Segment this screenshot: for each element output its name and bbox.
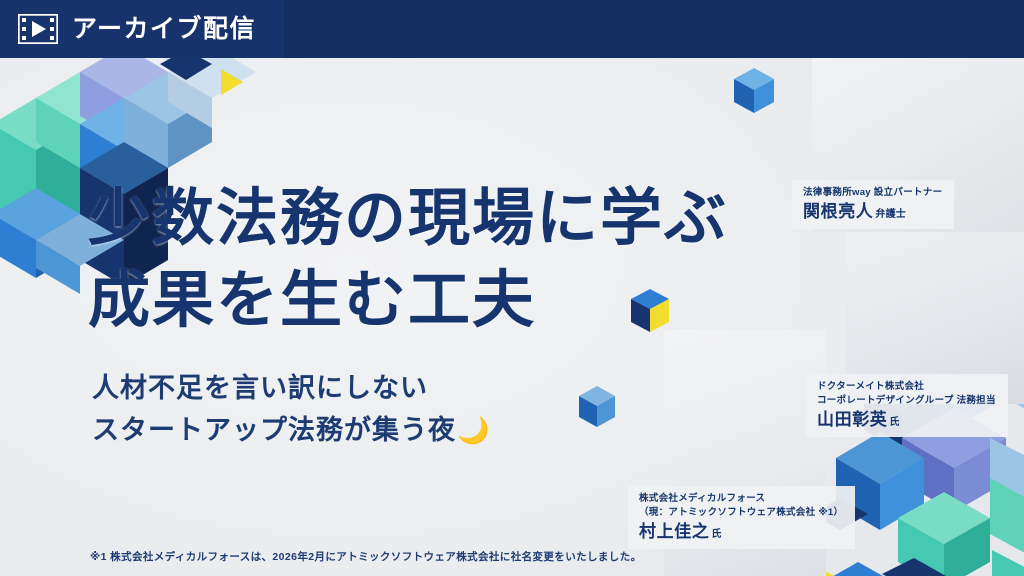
nameplate-name-yamada: 山田彰英氏 [817, 410, 996, 430]
speaker-suffix-murakami: 氏 [711, 529, 721, 540]
cube-blue-lower-center [578, 385, 616, 429]
page-title: 少数法務の現場に学ぶ 成果を生む工夫 [88, 178, 728, 343]
crescent-moon-icon: 🌙 [457, 415, 490, 445]
nameplate-name-murakami: 村上佳之氏 [639, 522, 843, 542]
subtitle-line-2: スタートアップ法務が集う夜🌙 [92, 410, 490, 452]
speaker-suffix-sekine: 弁護士 [875, 209, 906, 220]
page-subtitle: 人材不足を言い訳にしない スタートアップ法務が集う夜🌙 [92, 368, 490, 452]
nameplate-yamada: ドクターメイト株式会社 コーポレートデザイングループ 法務担当 山田彰英氏 [806, 374, 1008, 437]
nameplate-org1-murakami: 株式会社メディカルフォース [639, 492, 843, 506]
nameplate-sekine: 法律事務所way 設立パートナー 関根亮人弁護士 [792, 180, 954, 229]
triangle-yellow-top-icon [219, 68, 245, 96]
speaker-name-yamada: 山田彰英 [817, 410, 887, 429]
nameplate-org1-yamada: ドクターメイト株式会社 [817, 380, 996, 394]
archive-badge-label: アーカイブ配信 [72, 17, 256, 42]
speaker-suffix-yamada: 氏 [889, 417, 899, 428]
nameplate-org-sekine: 法律事務所way 設立パートナー [803, 186, 942, 200]
speaker-name-murakami: 村上佳之 [639, 522, 709, 541]
subtitle-line-1: 人材不足を言い訳にしない [92, 368, 490, 410]
nameplate-org2-murakami: （現：アトミックソフトウェア株式会社 ※1） [639, 506, 843, 520]
nameplate-org2-yamada: コーポレートデザイングループ 法務担当 [817, 394, 996, 408]
subtitle-line-2-text: スタートアップ法務が集う夜 [92, 415, 456, 445]
cube-blue-upper-right [733, 67, 775, 115]
speaker-name-sekine: 関根亮人 [803, 202, 873, 221]
archive-badge: アーカイブ配信 [0, 0, 284, 58]
slide-canvas: 法律事務所way 設立パートナー 関根亮人弁護士 ドクターメイト株式会社 コーポ… [0, 0, 1024, 576]
title-line-1: 少数法務の現場に学ぶ [88, 178, 728, 260]
film-play-icon [18, 14, 58, 44]
footnote-text: ※1 株式会社メディカルフォースは、2026年2月にアトミックソフトウェア株式会… [90, 549, 642, 564]
nameplate-murakami: 株式会社メディカルフォース （現：アトミックソフトウェア株式会社 ※1） 村上佳… [628, 486, 855, 549]
title-line-2: 成果を生む工夫 [88, 260, 728, 342]
nameplate-name-sekine: 関根亮人弁護士 [803, 202, 942, 222]
